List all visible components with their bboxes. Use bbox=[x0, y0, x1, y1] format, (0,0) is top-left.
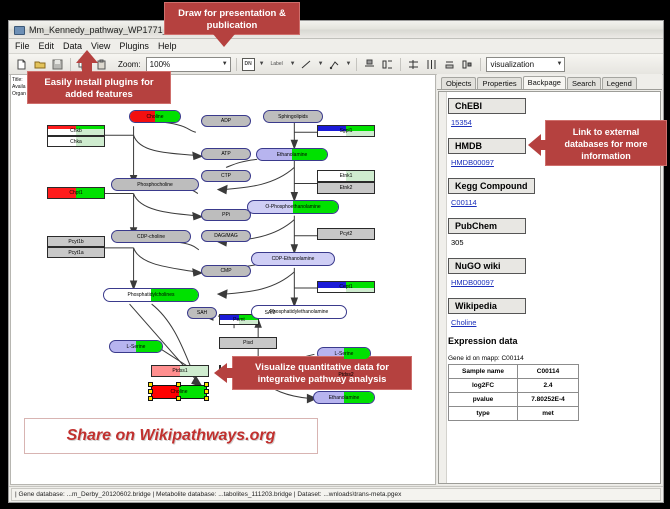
menu-item-plugins[interactable]: Plugins bbox=[119, 41, 149, 51]
datanode-chevron-down-icon[interactable]: ▼ bbox=[259, 61, 265, 67]
interaction-chevron-down-icon[interactable]: ▼ bbox=[346, 61, 352, 67]
node-label: Pemt bbox=[233, 317, 245, 323]
node-etnk2[interactable]: Etnk2 bbox=[317, 182, 375, 194]
datanode-icon[interactable]: DN bbox=[242, 58, 255, 71]
app-window-icon bbox=[13, 24, 24, 35]
cell-label-sample: Sample name bbox=[449, 365, 518, 379]
node-chka[interactable]: Chka bbox=[47, 136, 105, 147]
db-link-wikipedia[interactable]: Choline bbox=[451, 318, 656, 327]
node-cdp-ethanolamine[interactable]: CDP-Ethanolamine bbox=[251, 252, 335, 266]
visualize-callout-text: Visualize quantitative data for integrat… bbox=[255, 362, 389, 385]
node-ethanolamine-bottom[interactable]: Ethanolamine bbox=[313, 391, 375, 404]
node-cept1[interactable]: Cept1 bbox=[317, 281, 375, 293]
tab-backpage[interactable]: Backpage bbox=[523, 76, 566, 89]
toolbar-separator-5 bbox=[480, 58, 481, 71]
share-callout: Share on Wikipathways.org bbox=[24, 418, 318, 454]
selection-handle-ne[interactable] bbox=[204, 382, 209, 387]
tab-search[interactable]: Search bbox=[567, 77, 601, 89]
node-chkb[interactable]: Chkb bbox=[47, 125, 105, 136]
tab-properties[interactable]: Properties bbox=[477, 77, 521, 89]
save-icon[interactable] bbox=[50, 57, 65, 72]
node-label: Cept1 bbox=[339, 284, 352, 290]
group-icon[interactable] bbox=[380, 57, 395, 72]
table-row: log2FC 2.4 bbox=[449, 379, 579, 393]
cell-label-log2fc: log2FC bbox=[449, 379, 518, 393]
node-label: Phosphatidylethanolamine bbox=[270, 309, 329, 315]
distribute-icon[interactable] bbox=[424, 57, 439, 72]
interaction-icon[interactable] bbox=[327, 57, 342, 72]
toolbar-separator-2 bbox=[236, 58, 237, 71]
node-dagmag[interactable]: DAG/MAG bbox=[201, 230, 251, 242]
status-bar-text: | Gene database: ...m_Derby_20120602.bri… bbox=[15, 491, 401, 498]
node-label: Choline bbox=[171, 389, 188, 395]
db-header-nugo: NuGO wiki bbox=[448, 258, 526, 274]
selection-handle-sw[interactable] bbox=[148, 396, 153, 401]
node-label: Pcyt1a bbox=[68, 250, 83, 256]
cell-label-type: type bbox=[449, 407, 518, 421]
node-pisd[interactable]: Pisd bbox=[219, 337, 277, 349]
node-choline-top[interactable]: Choline bbox=[129, 110, 181, 123]
db-header-kegg: Kegg Compound bbox=[448, 178, 535, 194]
node-pcyt1a[interactable]: Pcyt1a bbox=[47, 247, 105, 258]
node-label: Choline bbox=[147, 114, 164, 120]
cell-label-pvalue: pvalue bbox=[449, 393, 518, 407]
node-o-phosphoethanolamine[interactable]: O-Phosphoethanolamine bbox=[247, 200, 339, 214]
plugins-callout-text: Easily install plugins for added feature… bbox=[44, 77, 153, 100]
tab-legend[interactable]: Legend bbox=[602, 77, 637, 89]
selection-handle-w[interactable] bbox=[148, 389, 153, 394]
zoom-combo[interactable]: 100% ▼ bbox=[146, 57, 231, 72]
selection-handle-e[interactable] bbox=[204, 389, 209, 394]
node-label: ATP bbox=[221, 151, 230, 157]
node-ppi[interactable]: PPi bbox=[201, 209, 251, 221]
label-icon[interactable]: Label bbox=[268, 57, 286, 72]
cell-value-log2fc: 2.4 bbox=[518, 379, 579, 393]
visualize-callout: Visualize quantitative data for integrat… bbox=[232, 356, 412, 390]
layer-icon[interactable] bbox=[460, 57, 475, 72]
chevron-down-icon: ▼ bbox=[222, 61, 228, 67]
cell-value-type: met bbox=[518, 407, 579, 421]
node-sphingolipids[interactable]: Sphingolipids bbox=[263, 110, 323, 123]
node-label: Pcyt2 bbox=[340, 231, 353, 237]
toolbar-separator-4 bbox=[400, 58, 401, 71]
node-label: L-Serine bbox=[127, 344, 146, 350]
share-callout-text: Share on Wikipathways.org bbox=[67, 427, 276, 445]
node-label: ADP bbox=[221, 118, 231, 124]
selection-handle-s[interactable] bbox=[176, 396, 181, 401]
plugins-callout-arrow-stem bbox=[82, 62, 92, 72]
node-etnk1[interactable]: Etnk1 bbox=[317, 170, 375, 182]
table-row: type met bbox=[449, 407, 579, 421]
tab-objects[interactable]: Objects bbox=[441, 77, 476, 89]
node-label: Pisd bbox=[243, 340, 253, 346]
menu-item-file[interactable]: File bbox=[15, 41, 30, 51]
zoom-value: 100% bbox=[150, 60, 170, 69]
new-icon[interactable] bbox=[14, 57, 29, 72]
expression-table: Sample name C00114 log2FC 2.4 pvalue 7.8… bbox=[448, 364, 579, 421]
node-phosphatidylcholines[interactable]: Phosphatidylcholines bbox=[103, 288, 199, 302]
node-label: Sphingolipids bbox=[278, 114, 308, 120]
links-callout-text: Link to external databases for more info… bbox=[564, 127, 647, 161]
selection-handle-n[interactable] bbox=[176, 382, 181, 387]
status-bar: | Gene database: ...m_Derby_20120602.bri… bbox=[9, 486, 663, 502]
node-label: CDP-choline bbox=[137, 234, 165, 240]
node-label: PPi bbox=[222, 212, 230, 218]
backpage-scrollbar[interactable] bbox=[439, 92, 447, 483]
node-atp[interactable]: ATP bbox=[201, 148, 251, 160]
screenshot-root: Mm_Kennedy_pathway_WP1771_45176.gpml Fil… bbox=[0, 0, 670, 509]
node-label: CDP-Ethanolamine bbox=[272, 256, 315, 262]
node-label: Chpt1 bbox=[69, 190, 82, 196]
links-callout: Link to external databases for more info… bbox=[545, 120, 667, 166]
order-icon[interactable] bbox=[442, 57, 457, 72]
node-ethanolamine-top[interactable]: Ethanolamine bbox=[256, 148, 328, 161]
node-label: L-Serine bbox=[335, 351, 354, 357]
node-label: CTP bbox=[221, 173, 231, 179]
open-icon[interactable] bbox=[32, 57, 47, 72]
label-icon-text: Label bbox=[271, 61, 283, 67]
node-label: Ptdss2 bbox=[338, 372, 353, 378]
node-phosphocholine[interactable]: Phosphocholine bbox=[111, 178, 199, 191]
visualize-callout-arrow-stem bbox=[226, 368, 234, 378]
visualization-combo[interactable]: visualization ▼ bbox=[486, 57, 565, 72]
cell-value-sample: C00114 bbox=[518, 365, 579, 379]
menu-bar: File Edit Data View Plugins Help bbox=[9, 39, 663, 54]
node-ptdss1[interactable]: Ptdss1 bbox=[151, 365, 209, 377]
chevron-down-icon-2: ▼ bbox=[557, 61, 563, 67]
node-label: O-Phosphoethanolamine bbox=[265, 204, 320, 210]
node-label: DAG/MAG bbox=[214, 233, 238, 239]
links-callout-arrow-stem bbox=[540, 140, 548, 150]
db-header-pubchem: PubChem bbox=[448, 218, 526, 234]
node-ctp[interactable]: CTP bbox=[201, 170, 251, 182]
node-label: Ethanolamine bbox=[329, 395, 360, 401]
draw-callout: Draw for presentation & publication bbox=[164, 2, 300, 35]
table-row: pvalue 7.80252E-4 bbox=[449, 393, 579, 407]
node-l-serine-left[interactable]: L-Serine bbox=[109, 340, 163, 353]
node-label: Etnk1 bbox=[340, 173, 353, 179]
db-header-chebi: ChEBI bbox=[448, 98, 526, 114]
node-label: Chka bbox=[70, 139, 82, 145]
db-header-hmdb: HMDB bbox=[448, 138, 526, 154]
selection-handle-nw[interactable] bbox=[148, 382, 153, 387]
draw-callout-arrow-stem bbox=[219, 33, 229, 40]
node-label: Ethanolamine bbox=[277, 152, 308, 158]
db-link-kegg[interactable]: C00114 bbox=[451, 198, 656, 207]
node-sah[interactable]: SAH bbox=[187, 307, 217, 319]
side-panel-tabs: Objects Properties Backpage Search Legen… bbox=[437, 74, 662, 90]
node-label: Chkb bbox=[70, 128, 82, 134]
datanode-icon-label: DN bbox=[245, 61, 252, 67]
node-label: Phosphocholine bbox=[137, 182, 173, 188]
node-label: Sgpl1 bbox=[340, 128, 353, 134]
expression-data-title: Expression data bbox=[448, 336, 656, 346]
label-chevron-down-icon[interactable]: ▼ bbox=[290, 61, 296, 67]
gene-id-line: Gene id on mapp: C00114 bbox=[448, 355, 656, 362]
node-pcyt2[interactable]: Pcyt2 bbox=[317, 228, 375, 240]
visualization-value: visualization bbox=[490, 60, 534, 69]
node-cmp[interactable]: CMP bbox=[201, 265, 251, 277]
node-sgpl1[interactable]: Sgpl1 bbox=[317, 125, 375, 137]
toolbar-separator-3 bbox=[356, 58, 357, 71]
line-icon[interactable] bbox=[299, 57, 314, 72]
node-label: CMP bbox=[220, 268, 231, 274]
title-bar: Mm_Kennedy_pathway_WP1771_45176.gpml bbox=[9, 21, 663, 39]
db-header-wikipedia: Wikipedia bbox=[448, 298, 526, 314]
menu-item-edit[interactable]: Edit bbox=[39, 41, 55, 51]
zoom-label: Zoom: bbox=[118, 60, 141, 69]
node-chpt1[interactable]: Chpt1 bbox=[47, 187, 105, 199]
draw-callout-text: Draw for presentation & publication bbox=[178, 8, 286, 31]
menu-item-help[interactable]: Help bbox=[158, 41, 177, 51]
status-bar-inner: | Gene database: ...m_Derby_20120602.bri… bbox=[11, 488, 661, 501]
db-link-nugo[interactable]: HMDB00097 bbox=[451, 278, 656, 287]
node-pcyt1b[interactable]: Pcyt1b bbox=[47, 236, 105, 247]
toolbar-separator bbox=[70, 58, 71, 71]
stack-icon[interactable] bbox=[406, 57, 421, 72]
node-label: SAH bbox=[197, 310, 207, 316]
table-row: Sample name C00114 bbox=[449, 365, 579, 379]
align-icon[interactable] bbox=[362, 57, 377, 72]
db-value-pubchem: 305 bbox=[451, 238, 656, 247]
plugins-callout: Easily install plugins for added feature… bbox=[27, 71, 171, 104]
node-adp[interactable]: ADP bbox=[201, 115, 251, 127]
cell-value-pvalue: 7.80252E-4 bbox=[518, 393, 579, 407]
node-label: Pcyt1b bbox=[68, 239, 83, 245]
node-cdp-choline[interactable]: CDP-choline bbox=[111, 230, 191, 243]
node-label: Ptdss1 bbox=[172, 368, 187, 374]
node-label: Etnk2 bbox=[340, 185, 353, 191]
selection-handle-se[interactable] bbox=[204, 396, 209, 401]
line-chevron-down-icon[interactable]: ▼ bbox=[318, 61, 324, 67]
node-label: Phosphatidylcholines bbox=[128, 292, 175, 298]
